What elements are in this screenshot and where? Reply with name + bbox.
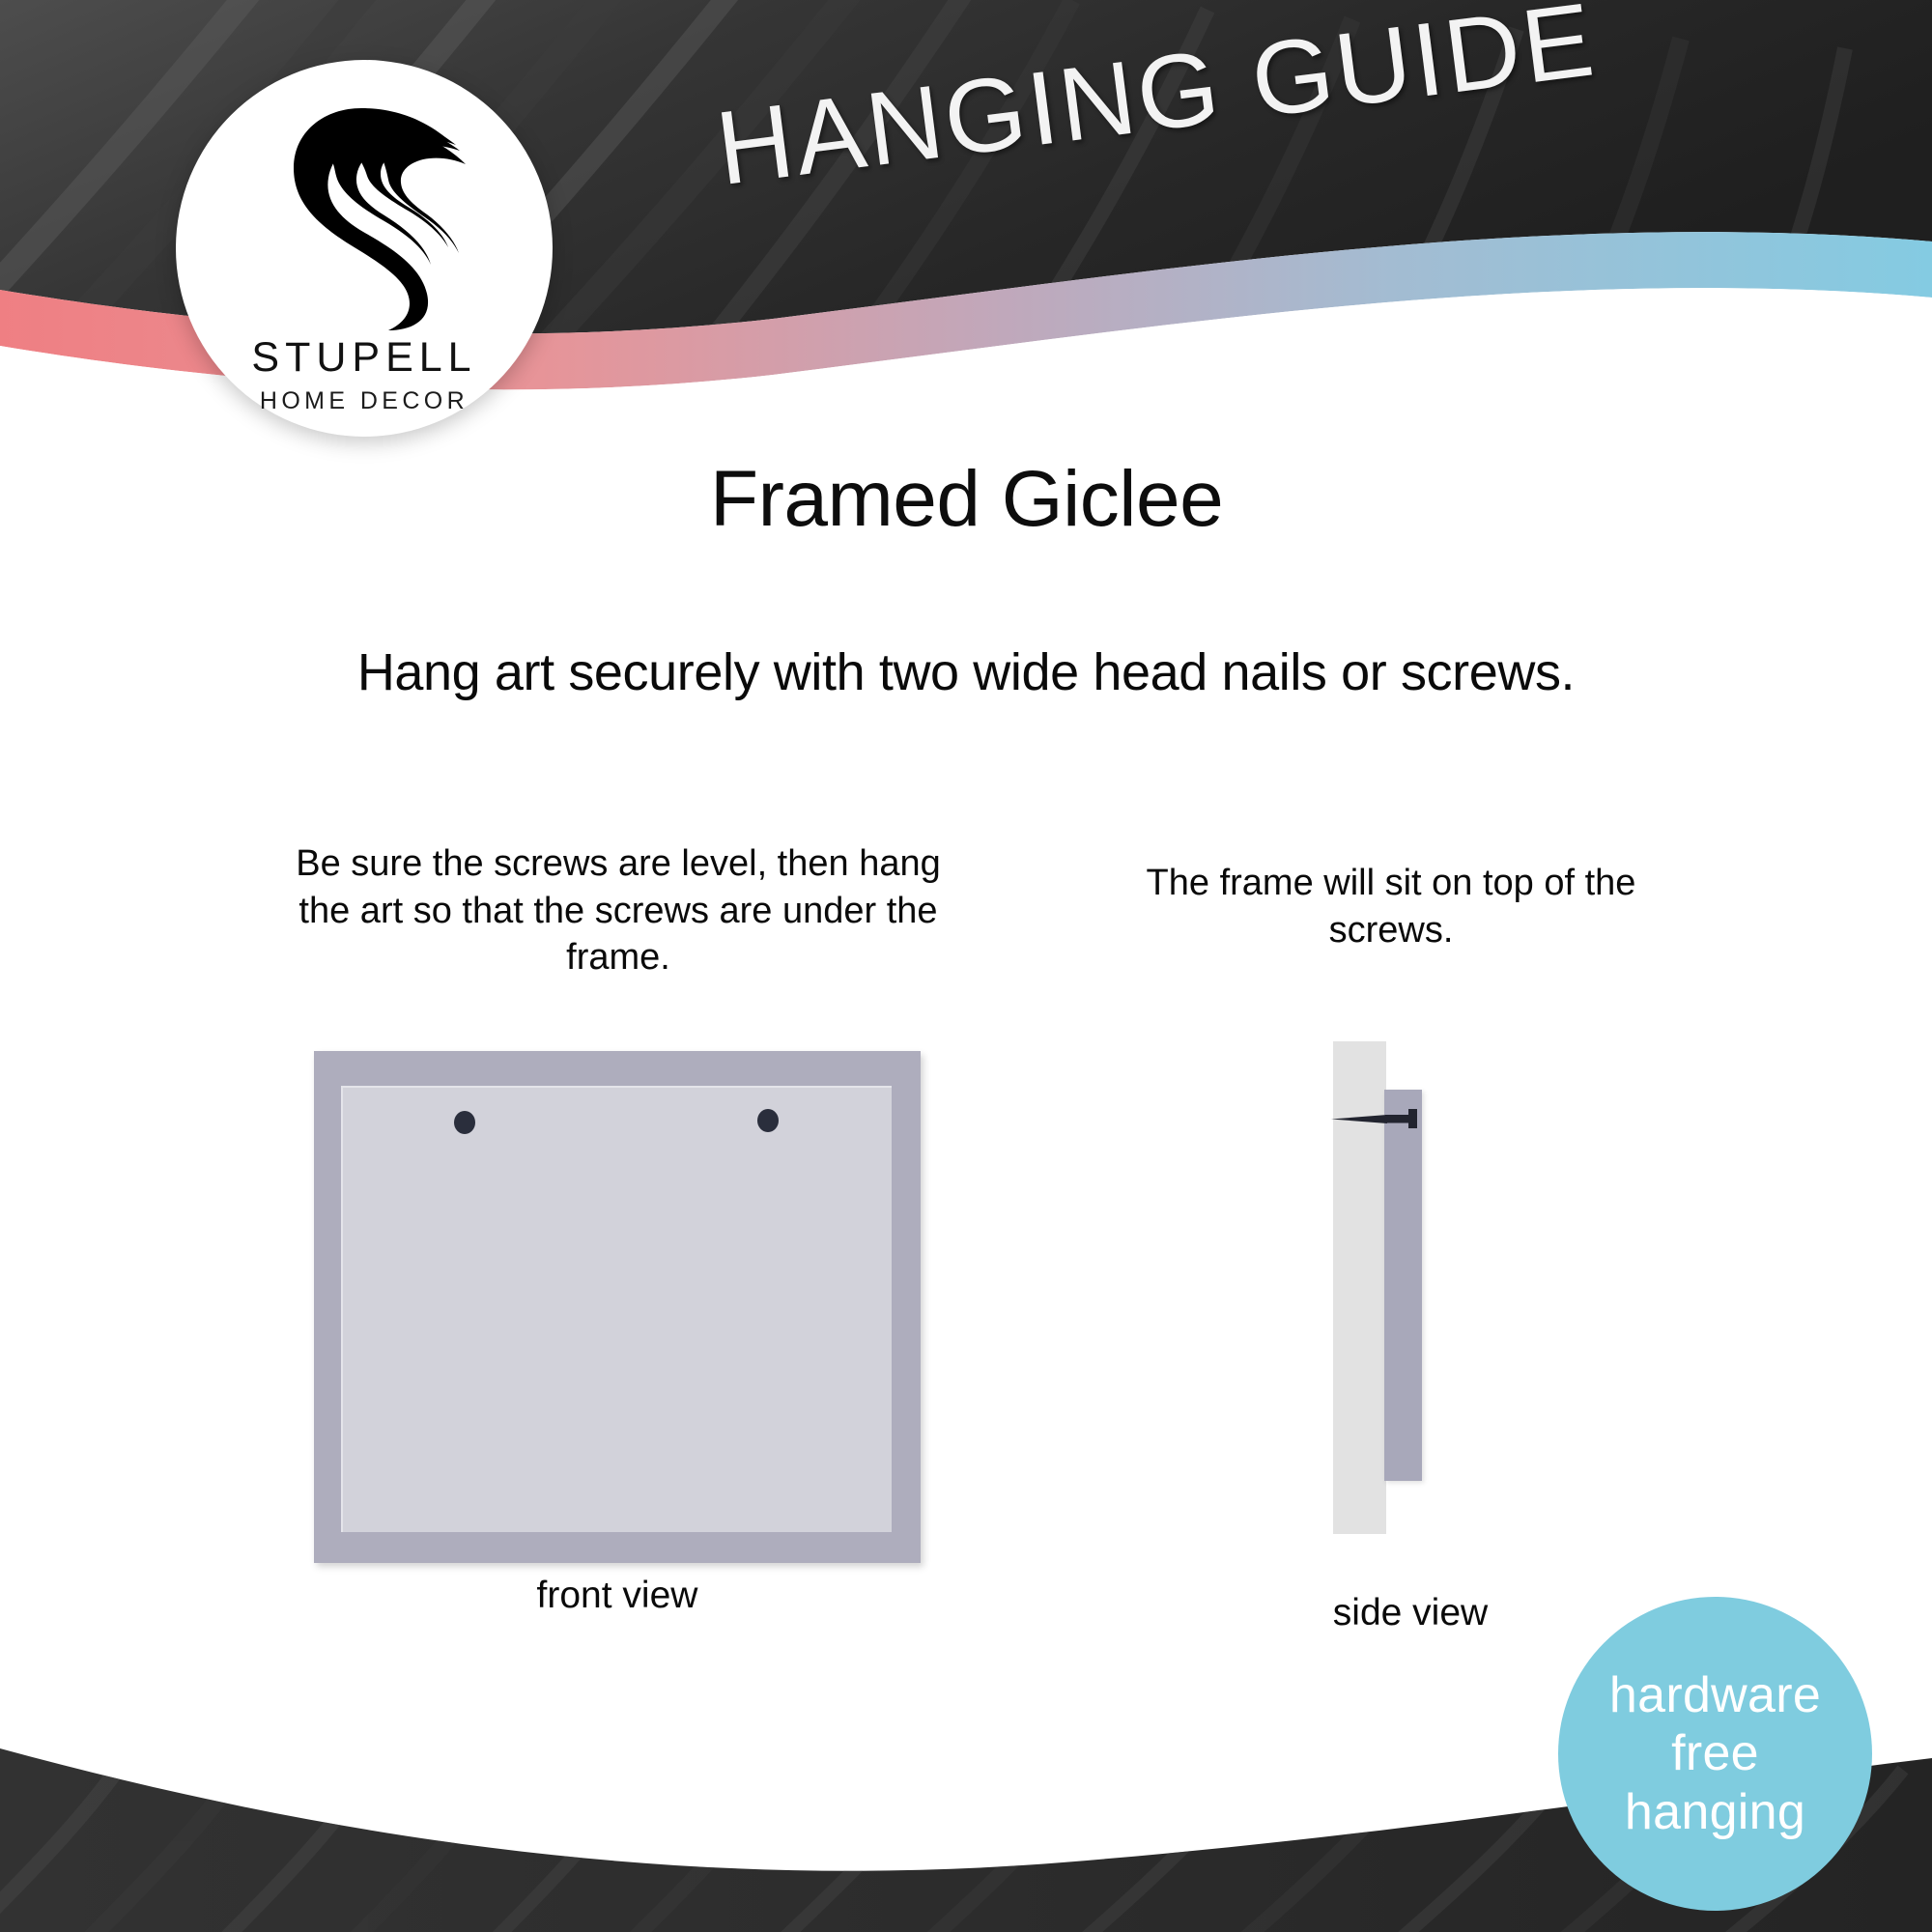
side-view-diagram <box>1333 1041 1507 1577</box>
front-view-frame-diagram <box>314 1051 921 1563</box>
logo-wordmark: STUPELL <box>251 334 476 382</box>
front-view-label: front view <box>314 1575 921 1617</box>
badge-line-2: free <box>1671 1724 1759 1782</box>
logo-badge: STUPELL HOME DECOR <box>176 60 553 437</box>
main-instruction: Hang art securely with two wide head nai… <box>0 642 1932 702</box>
front-view-mat <box>341 1086 892 1532</box>
hanging-guide-page: STUPELL HOME DECOR HANGING GUIDE Framed … <box>0 0 1932 1932</box>
swirl-s-logo-icon <box>261 99 469 330</box>
badge-line-3: hanging <box>1625 1783 1805 1841</box>
screw-dot-left <box>454 1111 475 1134</box>
side-view-caption: The frame will sit on top of the screws. <box>1125 860 1657 953</box>
product-type-heading: Framed Giclee <box>710 454 1223 545</box>
badge-line-1: hardware <box>1609 1666 1821 1724</box>
nail-icon <box>1331 1109 1430 1128</box>
side-view-frame <box>1384 1090 1422 1481</box>
side-view-label: side view <box>1198 1592 1623 1634</box>
hardware-free-hanging-badge: hardware free hanging <box>1558 1597 1872 1911</box>
front-view-caption: Be sure the screws are level, then hang … <box>280 840 956 981</box>
screw-dot-right <box>757 1109 779 1132</box>
logo-tagline: HOME DECOR <box>260 387 469 415</box>
